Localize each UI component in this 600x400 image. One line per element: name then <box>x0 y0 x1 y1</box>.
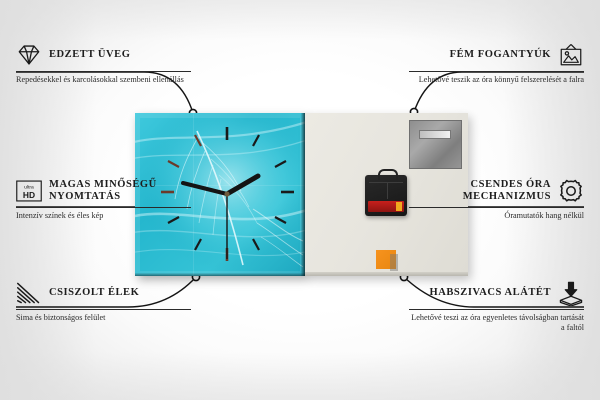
ultra-hd-icon: ultra HD <box>16 178 42 204</box>
feature-title: HABSZIVACS ALÁTÉT <box>430 287 552 300</box>
hour-marker-11 <box>195 135 201 146</box>
hour-marker-4 <box>275 217 286 223</box>
feature-description: Repedésekkel és karcolásokkal szembeni e… <box>16 75 191 85</box>
battery <box>368 201 404 212</box>
mechanism-loop <box>378 169 398 180</box>
hour-marker-10 <box>168 161 179 167</box>
feature-polished-edges: CSISZOLT ÉLEK Sima és biztonságos felüle… <box>16 280 191 323</box>
feature-description: Lehetővé teszik az óra könnyű felszerelé… <box>409 75 584 85</box>
polished-edge-icon <box>16 280 42 306</box>
feature-title: EDZETT ÜVEG <box>49 49 130 62</box>
hour-marker-5 <box>253 239 259 250</box>
feature-foam-pad: HABSZIVACS ALÁTÉT Lehetővé teszi az óra … <box>409 280 584 333</box>
gear-icon <box>558 178 584 204</box>
feature-description: Intenzív színek és éles kép <box>16 211 191 221</box>
feature-description: Lehetővé teszi az óra egyenletes távolsá… <box>409 313 584 333</box>
feature-title: CSISZOLT ÉLEK <box>49 287 139 300</box>
front-panel-bottom-edge <box>135 273 305 276</box>
hour-marker-7 <box>195 239 201 250</box>
feature-metal-handles: FÉM FOGANTYÚK Lehetővé teszik az óra kön… <box>409 42 584 85</box>
svg-text:HD: HD <box>23 190 35 200</box>
diamond-icon <box>16 42 42 68</box>
back-panel-bottom-lip <box>305 272 468 276</box>
picture-hanger-icon <box>558 42 584 68</box>
feature-description: Óramutatók hang nélkül <box>409 211 584 221</box>
divider <box>16 309 191 310</box>
divider <box>16 207 191 208</box>
clock-mechanism <box>365 175 407 216</box>
divider <box>409 207 584 208</box>
foam-pad-shadow <box>390 254 398 271</box>
hour-marker-2 <box>275 161 286 167</box>
divider <box>409 309 584 310</box>
feature-title: MAGAS MINŐSÉGŰ NYOMTATÁS <box>49 179 191 204</box>
hanger-slot <box>419 130 451 139</box>
hour-marker-1 <box>253 135 259 146</box>
foam-pad <box>376 250 396 269</box>
mechanism-seam-vertical <box>387 183 388 199</box>
feature-description: Sima és biztonságos felület <box>16 313 191 323</box>
infographic-canvas: EDZETT ÜVEG Repedésekkel és karcolásokka… <box>0 0 600 400</box>
feature-hd-print: ultra HD MAGAS MINŐSÉGŰ NYOMTATÁS Intenz… <box>16 178 191 221</box>
hour-hand <box>227 176 258 194</box>
feature-title: CSENDES ÓRA MECHANIZMUS <box>409 179 551 204</box>
feature-tempered-glass: EDZETT ÜVEG Repedésekkel és karcolásokka… <box>16 42 191 85</box>
clock-center-cap <box>224 191 229 196</box>
divider <box>16 71 191 72</box>
feature-silent-mechanism: CSENDES ÓRA MECHANIZMUS Óramutatók hang … <box>409 178 584 221</box>
feature-title: FÉM FOGANTYÚK <box>450 49 551 62</box>
foam-pad-icon <box>558 280 584 306</box>
divider <box>409 71 584 72</box>
mechanism-seam <box>369 182 403 183</box>
metal-hanger <box>409 120 462 169</box>
